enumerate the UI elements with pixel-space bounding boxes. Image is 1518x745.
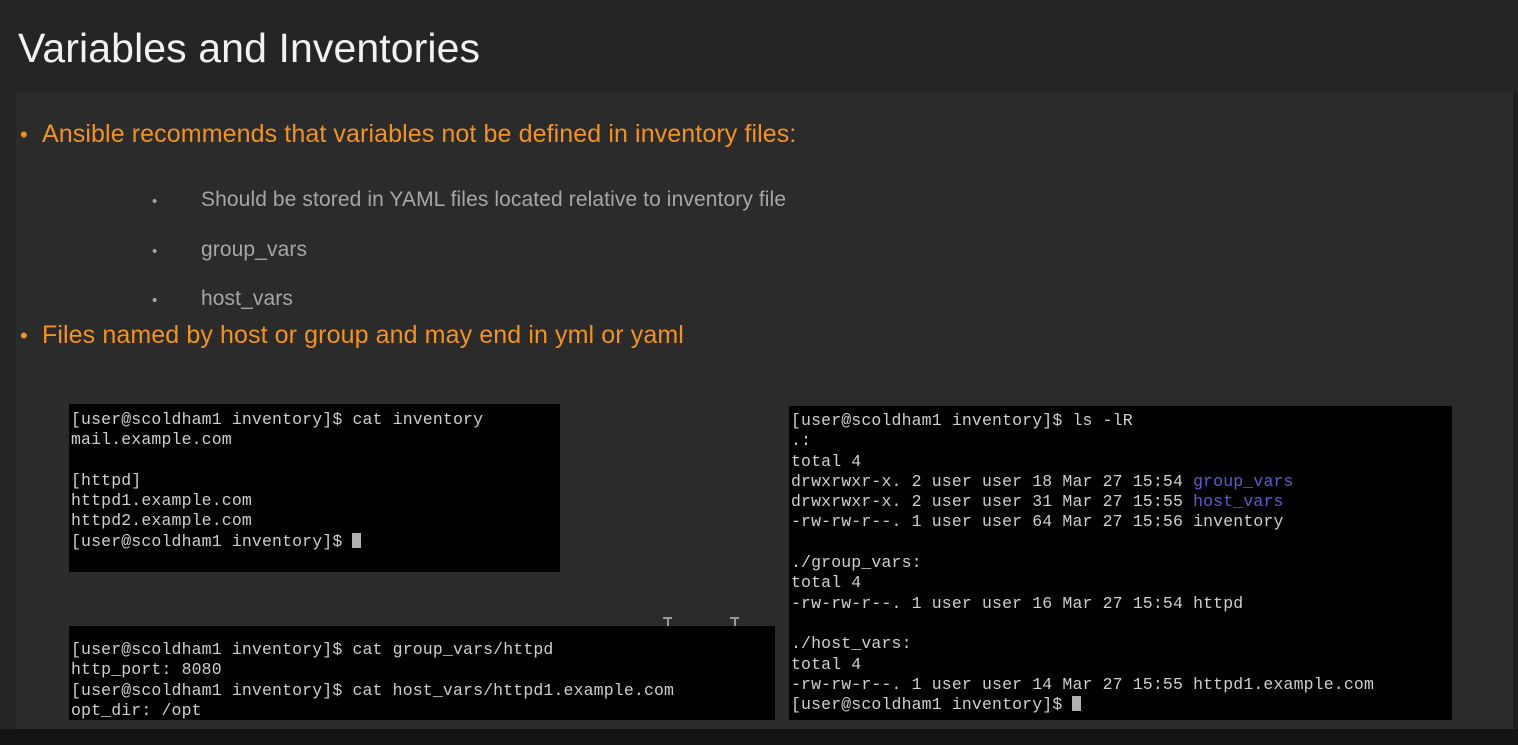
clipped-glyph-artifact-4 [730, 617, 739, 619]
terminal-line: total 4 [791, 573, 1452, 593]
terminal-line [71, 451, 560, 471]
terminal-line: [user@scoldham1 inventory]$ ls -lR [791, 411, 1452, 431]
directory-name: host_vars [1193, 492, 1283, 511]
terminal-line: [user@scoldham1 inventory]$ cat host_var… [71, 681, 775, 701]
terminal-line: ./host_vars: [791, 634, 1452, 654]
page-title: Variables and Inventories [18, 22, 480, 74]
terminal-line [791, 614, 1452, 634]
terminal-line: .: [791, 431, 1452, 451]
terminal-line: httpd2.example.com [71, 511, 560, 531]
directory-name: group_vars [1193, 472, 1294, 491]
terminal-line: httpd1.example.com [71, 491, 560, 511]
terminal-line: [user@scoldham1 inventory]$ [791, 695, 1452, 715]
panel-right-edge [1513, 93, 1518, 729]
bullet-marker: • [20, 325, 42, 347]
terminal-line: -rw-rw-r--. 1 user user 16 Mar 27 15:54 … [791, 594, 1452, 614]
terminal-line: http_port: 8080 [71, 660, 775, 680]
bullet-marker: • [20, 124, 42, 146]
clipped-glyph-artifact-1 [667, 619, 669, 626]
bullet-item-0: • Ansible recommends that variables not … [20, 120, 796, 149]
clipped-glyph-artifact-2 [663, 617, 672, 619]
bullet-text: group_vars [201, 238, 307, 262]
terminal-line: mail.example.com [71, 430, 560, 450]
terminal-line: drwxrwxr-x. 2 user user 18 Mar 27 15:54 … [791, 472, 1452, 492]
bullet-marker: • [152, 293, 201, 308]
bullet-item-3: • host_vars [152, 287, 293, 311]
panel-left-gutter [0, 93, 16, 729]
terminal-cursor [1072, 696, 1081, 711]
bullet-text: Should be stored in YAML files located r… [201, 188, 786, 212]
slide-bottom-edge [0, 729, 1518, 745]
bullet-item-1: • Should be stored in YAML files located… [152, 188, 786, 212]
presentation-slide: Variables and Inventories • Ansible reco… [0, 0, 1518, 745]
terminal-line: opt_dir: /opt [71, 701, 775, 720]
bullet-marker: • [152, 194, 201, 209]
bullet-item-4: • Files named by host or group and may e… [20, 321, 684, 350]
terminal-line: [httpd] [71, 471, 560, 491]
terminal-line: -rw-rw-r--. 1 user user 14 Mar 27 15:55 … [791, 675, 1452, 695]
bullet-item-2: • group_vars [152, 238, 307, 262]
terminal-line [791, 533, 1452, 553]
ls-recursive-terminal: [user@scoldham1 inventory]$ ls -lR.:tota… [789, 406, 1452, 720]
terminal-line: [user@scoldham1 inventory]$ [71, 532, 560, 552]
clipped-glyph-artifact-3 [734, 619, 736, 626]
terminal-line: total 4 [791, 655, 1452, 675]
terminal-line: total 4 [791, 452, 1452, 472]
bullet-text: Ansible recommends that variables not be… [42, 120, 796, 149]
terminal-line: -rw-rw-r--. 1 user user 64 Mar 27 15:56 … [791, 512, 1452, 532]
terminal-line: [user@scoldham1 inventory]$ cat inventor… [71, 410, 560, 430]
terminal-line: drwxrwxr-x. 2 user user 31 Mar 27 15:55 … [791, 492, 1452, 512]
slide-title-bar: Variables and Inventories [0, 0, 1518, 93]
terminal-line: [user@scoldham1 inventory]$ cat group_va… [71, 640, 775, 660]
bullet-text: host_vars [201, 287, 293, 311]
cat-vars-terminal: [user@scoldham1 inventory]$ cat group_va… [69, 626, 775, 720]
cat-inventory-terminal: [user@scoldham1 inventory]$ cat inventor… [69, 404, 560, 572]
terminal-line: ./group_vars: [791, 553, 1452, 573]
bullet-text: Files named by host or group and may end… [42, 321, 684, 350]
terminal-cursor [352, 533, 361, 548]
bullet-marker: • [152, 244, 201, 259]
